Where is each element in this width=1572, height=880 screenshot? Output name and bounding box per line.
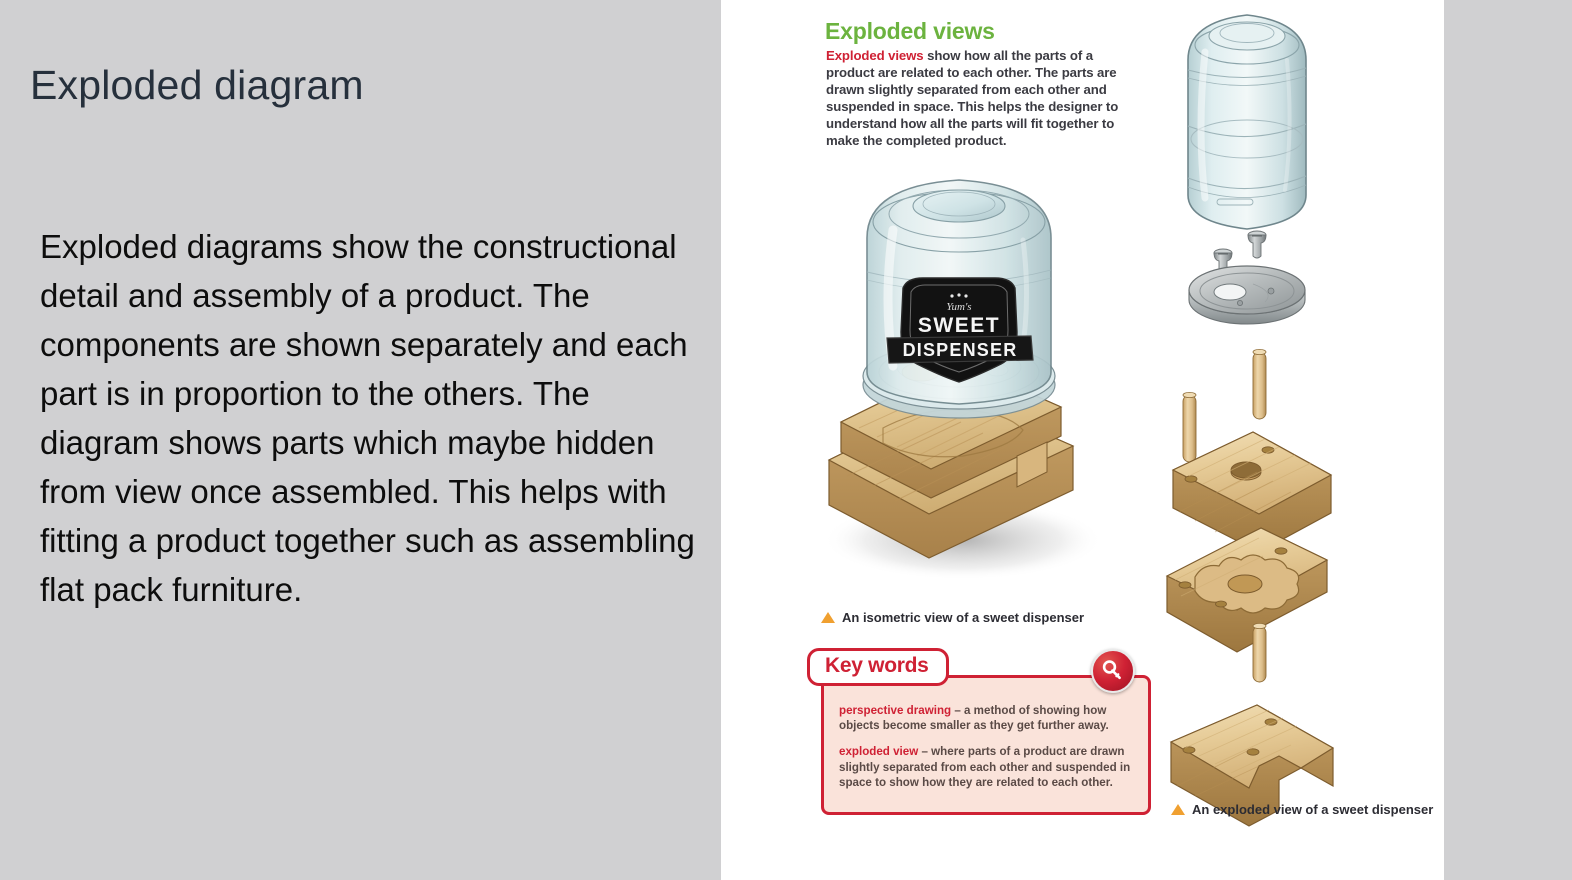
part-metal-disc [1189, 266, 1305, 324]
label-line-2: DISPENSER [903, 340, 1018, 360]
intro-lead-phrase: Exploded views [826, 48, 924, 63]
part-wood-block-shaped [1167, 528, 1327, 652]
isometric-dispenser-illustration: Yum's SWEET DISPENSER [811, 160, 1111, 610]
key-glyph-icon [1100, 658, 1126, 684]
key-words-panel: perspective drawing – a method of showin… [821, 675, 1151, 815]
caption-isometric-text: An isometric view of a sweet dispenser [842, 610, 1084, 625]
caption-exploded-text: An exploded view of a sweet dispenser [1192, 802, 1433, 817]
presentation-slide: Exploded diagram Exploded diagrams show … [0, 0, 1572, 880]
caption-isometric: An isometric view of a sweet dispenser [821, 610, 1084, 625]
part-glass-jar [1188, 15, 1306, 229]
triangle-marker-icon [1171, 804, 1185, 815]
label-line-1: SWEET [918, 314, 1000, 337]
key-words-body: perspective drawing – a method of showin… [839, 703, 1139, 790]
textbook-page-image: Exploded views Exploded views show how a… [721, 0, 1444, 880]
exploded-dispenser-illustration [1141, 0, 1444, 840]
part-screw-right [1248, 231, 1266, 258]
triangle-marker-icon [821, 612, 835, 623]
exploded-view-column: An exploded view of a sweet dispenser [1141, 0, 1444, 880]
part-dowel-right [1253, 349, 1266, 419]
slide-text-pane: Exploded diagram Exploded diagrams show … [0, 0, 721, 880]
key-words-entry: perspective drawing – a method of showin… [839, 703, 1139, 733]
part-dowel-centre [1253, 623, 1266, 682]
part-dowel-left [1183, 392, 1196, 462]
key-words-entry: exploded view – where parts of a product… [839, 744, 1139, 790]
page-title: Exploded diagram [30, 62, 364, 109]
key-icon [1091, 649, 1135, 693]
key-words-tab: Key words [807, 648, 949, 686]
label-script-text: Yum's [946, 301, 971, 313]
textbook-left-column: Exploded views Exploded views show how a… [721, 0, 1141, 880]
caption-exploded: An exploded view of a sweet dispenser [1171, 802, 1433, 817]
section-intro-paragraph: Exploded views show how all the parts of… [826, 47, 1119, 150]
key-words-title: Key words [825, 654, 929, 677]
key-term: perspective drawing [839, 704, 951, 717]
key-term: exploded view [839, 745, 918, 758]
slide-body-text: Exploded diagrams show the constructiona… [40, 222, 700, 614]
intro-rest-text: show how all the parts of a product are … [826, 48, 1118, 148]
section-heading: Exploded views [825, 18, 995, 45]
